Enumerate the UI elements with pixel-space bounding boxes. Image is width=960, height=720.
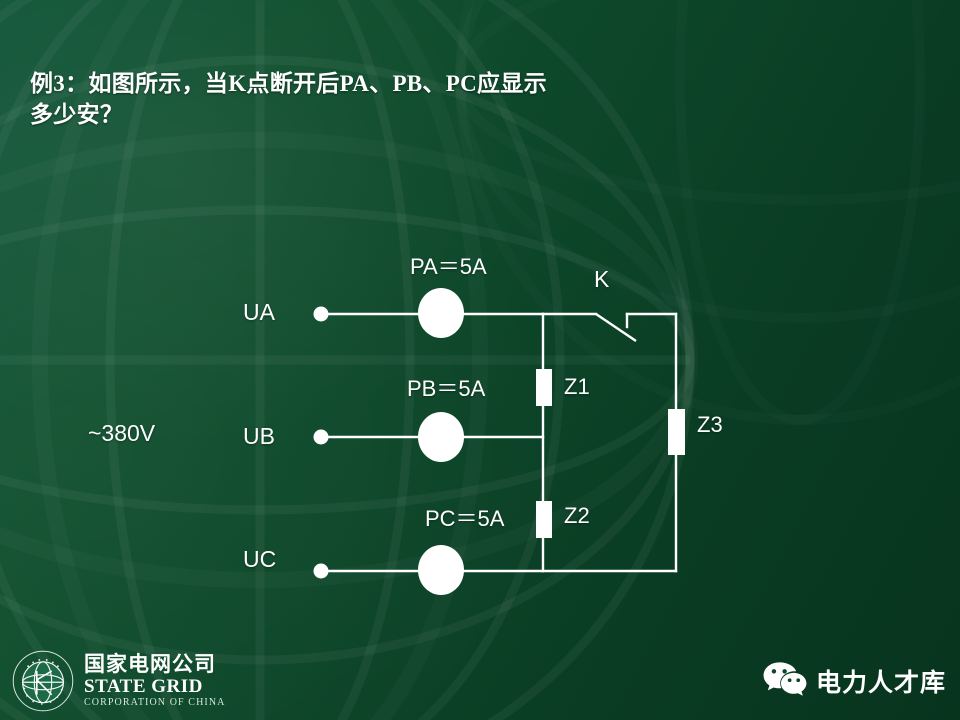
impedance-block-z2 bbox=[536, 501, 552, 538]
terminal-dot-uc bbox=[314, 564, 329, 579]
meter-label-pc: PC＝5A bbox=[425, 501, 504, 533]
ammeter-pb bbox=[418, 412, 464, 462]
state-grid-globe-icon bbox=[12, 650, 74, 712]
wechat-account: 电力人才库 bbox=[762, 655, 946, 707]
terminal-label-ub: UB bbox=[243, 423, 275, 450]
ammeter-pc bbox=[418, 545, 464, 595]
state-grid-subtitle: CORPORATION OF CHINA bbox=[84, 698, 225, 708]
circuit-diagram bbox=[0, 0, 960, 720]
terminal-dot-ub bbox=[314, 430, 329, 445]
wechat-icon bbox=[762, 661, 808, 701]
switch-blade-k[interactable] bbox=[596, 314, 636, 341]
terminal-dot-ua bbox=[314, 307, 329, 322]
meter-label-pa: PA＝5A bbox=[410, 249, 487, 281]
state-grid-name-en: STATE GRID bbox=[84, 677, 225, 696]
switch-label-k: K bbox=[594, 266, 609, 293]
impedance-block-z3 bbox=[668, 409, 685, 455]
impedance-block-z1 bbox=[536, 369, 552, 406]
source-voltage-label: ~380V bbox=[88, 420, 155, 447]
terminal-label-uc: UC bbox=[243, 546, 276, 573]
ammeter-pa bbox=[418, 288, 464, 338]
state-grid-name-cn: 国家电网公司 bbox=[84, 654, 225, 675]
impedance-label-z1: Z1 bbox=[564, 374, 590, 400]
state-grid-logo: 国家电网公司 STATE GRID CORPORATION OF CHINA bbox=[12, 648, 242, 714]
impedance-label-z3: Z3 bbox=[697, 412, 723, 438]
terminal-label-ua: UA bbox=[243, 299, 275, 326]
impedance-label-z2: Z2 bbox=[564, 503, 590, 529]
meter-label-pb: PB＝5A bbox=[407, 371, 485, 403]
wechat-account-name: 电力人才库 bbox=[816, 663, 946, 699]
slide-canvas: 例3：如图所示，当K点断开后PA、PB、PC应显示 多少安？ bbox=[0, 0, 960, 720]
